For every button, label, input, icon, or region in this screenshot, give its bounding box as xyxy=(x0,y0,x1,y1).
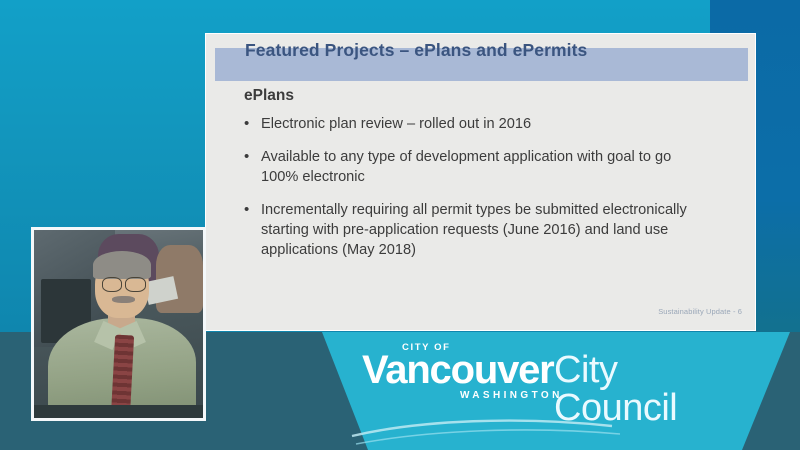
bullet-text: Available to any type of development app… xyxy=(261,147,693,187)
bullet-text: Electronic plan review – rolled out in 2… xyxy=(261,114,531,134)
slide-title: Featured Projects – ePlans and ePermits xyxy=(245,40,587,61)
bullet-point-icon: • xyxy=(244,200,261,260)
city-logo: CITY OF Vancouver WASHINGTON City Counci… xyxy=(362,343,742,415)
logo-city-name-text: Vancouver xyxy=(362,350,554,390)
bullet-point-icon: • xyxy=(244,114,261,134)
logo-state-text: WASHINGTON xyxy=(460,391,563,401)
slide-subtitle: ePlans xyxy=(244,87,294,105)
list-item: • Electronic plan review – rolled out in… xyxy=(244,114,724,134)
slide-bullet-list: • Electronic plan review – rolled out in… xyxy=(244,114,724,273)
slide-footer-text: Sustainability Update - 6 xyxy=(658,307,742,316)
program-name-text: City Council xyxy=(554,351,742,427)
bullet-point-icon: • xyxy=(244,147,261,187)
presentation-slide: Featured Projects – ePlans and ePermits … xyxy=(205,33,756,331)
broadcast-screen: CITY OF Vancouver WASHINGTON City Counci… xyxy=(0,0,800,450)
list-item: • Incrementally requiring all permit typ… xyxy=(244,200,724,260)
speaker-video-inset xyxy=(31,227,206,421)
video-frame xyxy=(34,230,203,418)
list-item: • Available to any type of development a… xyxy=(244,147,724,187)
bullet-text: Incrementally requiring all permit types… xyxy=(261,200,693,260)
